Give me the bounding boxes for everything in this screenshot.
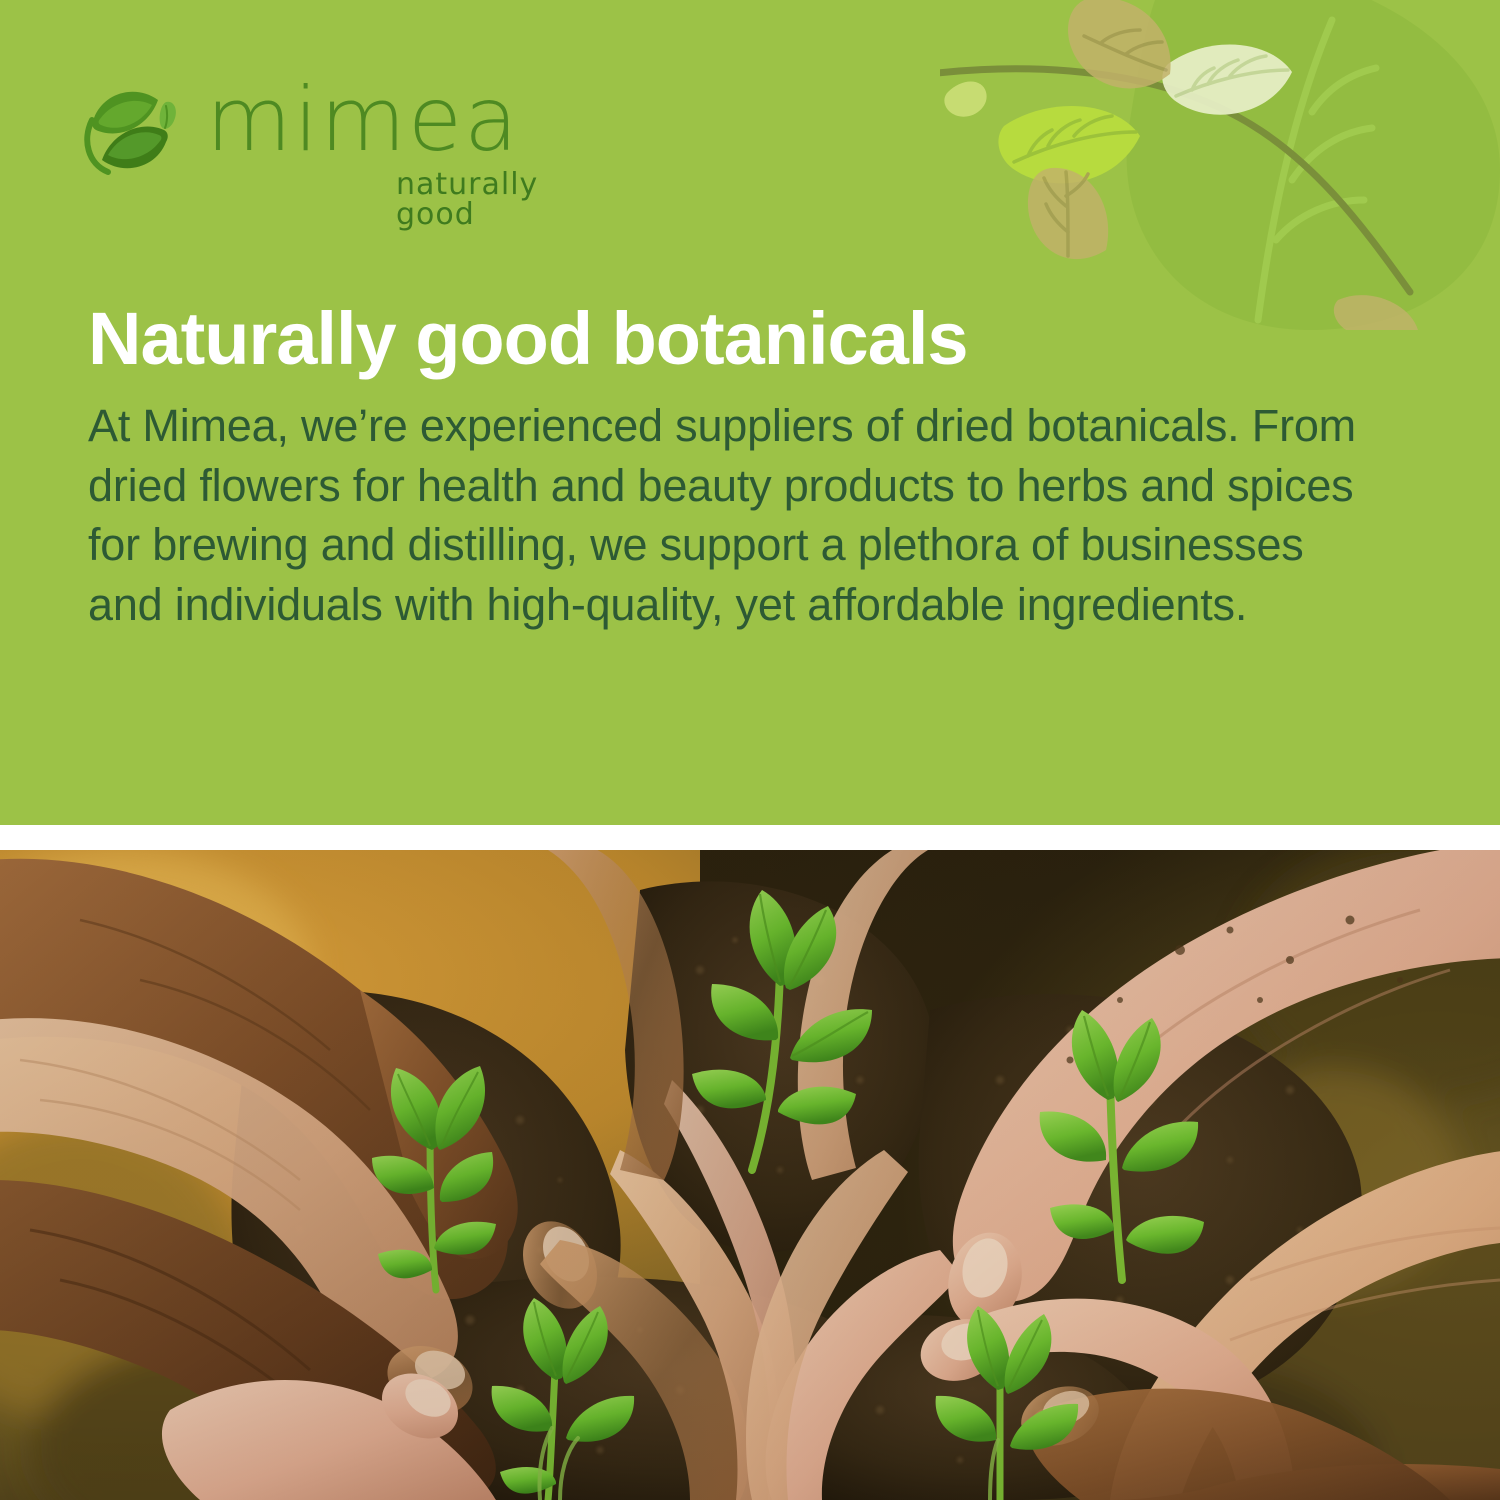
section-divider bbox=[0, 825, 1500, 850]
hero-body-text: At Mimea, we’re experienced suppliers of… bbox=[88, 396, 1363, 634]
leaf-circle-emblem-icon bbox=[78, 78, 182, 182]
photo-illustration bbox=[0, 850, 1500, 1500]
leaf-branch-decoration bbox=[940, 0, 1500, 330]
hero-copy-block: Naturally good botanicals At Mimea, we’r… bbox=[88, 300, 1378, 634]
brand-tagline: naturally good bbox=[396, 170, 548, 230]
page-title: Naturally good botanicals bbox=[88, 300, 1378, 378]
hands-holding-soil-photo bbox=[0, 850, 1500, 1500]
marketing-banner: mimea naturally good Naturally good bota… bbox=[0, 0, 1500, 1500]
hero-panel: mimea naturally good Naturally good bota… bbox=[0, 0, 1500, 825]
brand-wordmark: mimea bbox=[206, 76, 520, 164]
brand-logo[interactable]: mimea naturally good bbox=[78, 78, 548, 198]
